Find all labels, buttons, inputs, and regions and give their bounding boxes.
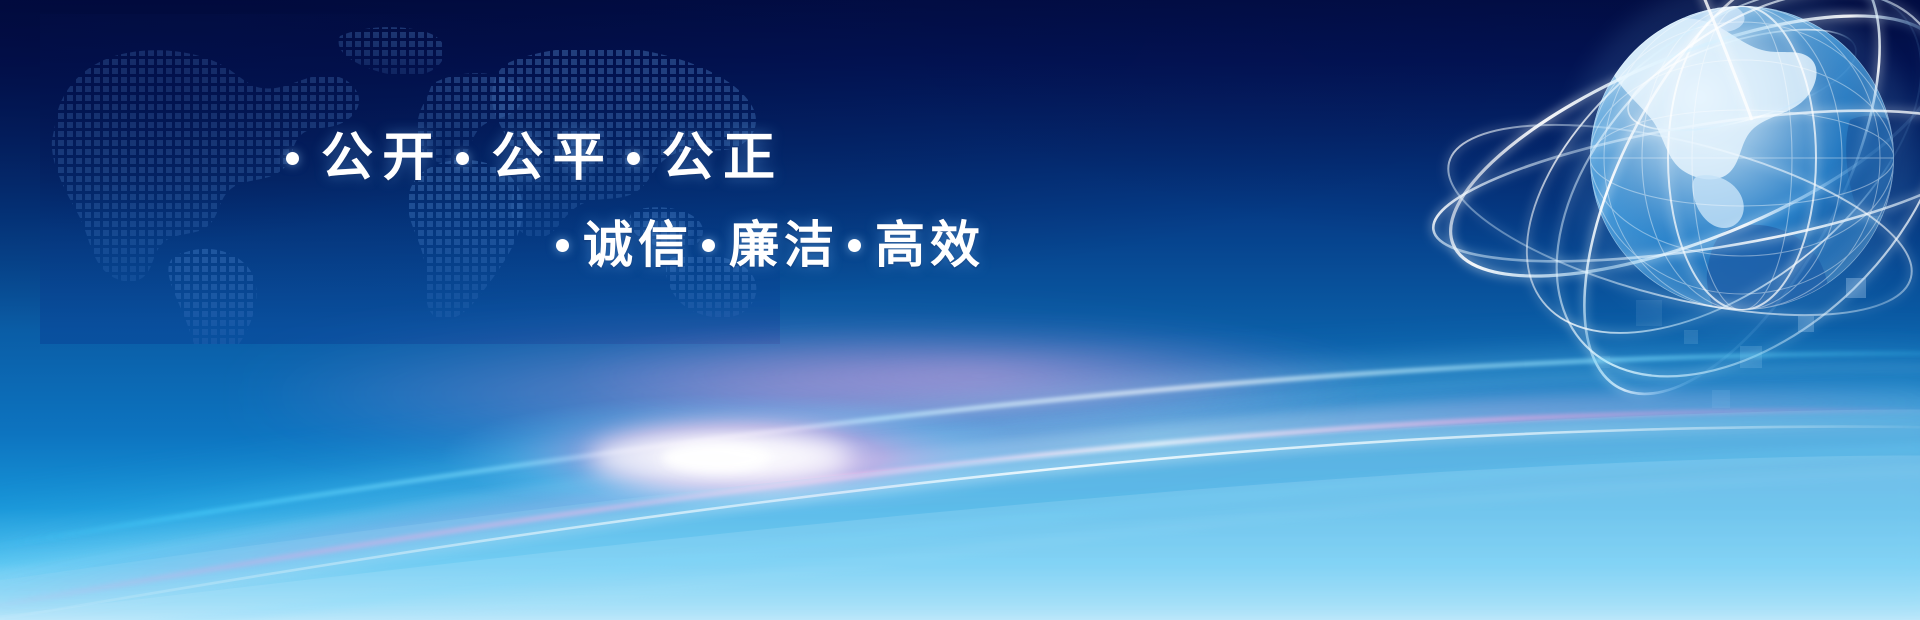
- bullet-dot-icon: [456, 152, 469, 165]
- slogan-word-lianjie: 廉洁: [729, 220, 839, 270]
- bullet-dot-icon: [556, 239, 569, 252]
- slogan-word-chengxin: 诚信: [583, 220, 693, 270]
- slogan-word-gongping: 公平: [491, 132, 614, 184]
- slogan-word-gaoxiao: 高效: [875, 220, 985, 270]
- slogan-line-1: 公开 公平 公正: [0, 132, 1150, 184]
- light-wave-graphic: [0, 290, 1920, 620]
- slogan-block: 公开 公平 公正 诚信 廉洁 高效: [0, 132, 1150, 270]
- bullet-dot-icon: [702, 239, 715, 252]
- slogan-word-gongkai: 公开: [321, 132, 444, 184]
- slogan-line-2: 诚信 廉洁 高效: [0, 220, 1150, 270]
- bullet-dot-icon: [627, 152, 640, 165]
- bullet-dot-icon: [286, 152, 299, 165]
- slogan-word-gongzheng: 公正: [662, 132, 785, 184]
- banner-root: 公开 公平 公正 诚信 廉洁 高效: [0, 0, 1920, 620]
- bullet-dot-icon: [848, 239, 861, 252]
